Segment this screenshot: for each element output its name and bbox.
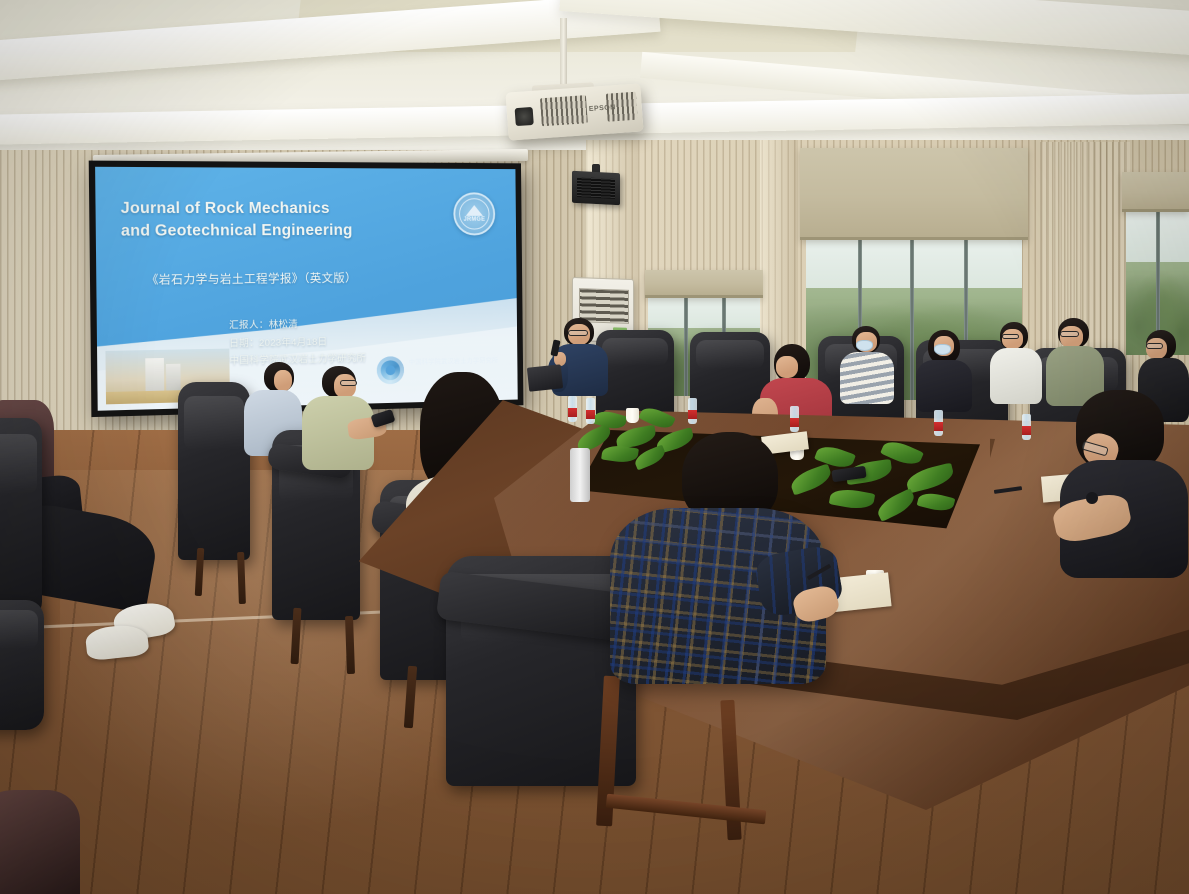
leaf	[874, 488, 918, 522]
window-mullion	[910, 220, 914, 400]
glasses-icon	[340, 380, 357, 386]
person-attendee-striped	[840, 326, 896, 406]
person-presenter	[548, 318, 616, 408]
laptop[interactable]	[527, 364, 563, 391]
face	[776, 356, 798, 378]
window-mullion	[684, 286, 688, 396]
water-bottle[interactable]	[790, 406, 799, 432]
person-attendee-foreground	[576, 432, 836, 682]
projector-vent	[540, 95, 588, 126]
ceiling-projector: EPSON	[505, 83, 643, 140]
conference-chair[interactable]	[0, 418, 42, 618]
glasses-icon	[1060, 331, 1079, 337]
slide-title-line-1: Journal of Rock Mechanics	[121, 198, 422, 221]
person-foreground-partial	[0, 790, 80, 894]
window-blind[interactable]	[1122, 172, 1189, 212]
paper-cup[interactable]	[626, 408, 639, 423]
person-attendee-right-front	[1040, 390, 1189, 590]
jrmge-logo-label: JRMGE	[464, 217, 486, 223]
face-mask	[856, 340, 873, 351]
building-icon	[166, 364, 181, 393]
building-icon	[145, 358, 164, 393]
leaf	[904, 462, 955, 493]
window-blind[interactable]	[645, 270, 763, 298]
glasses-icon	[1146, 343, 1163, 349]
glasses-icon	[568, 330, 588, 336]
torso	[990, 348, 1042, 404]
leaf	[917, 490, 956, 514]
conference-chair[interactable]	[0, 600, 44, 730]
jrmge-logo-icon: JRMGE	[453, 192, 495, 235]
mountain-peak-icon	[466, 205, 483, 216]
jrmge-logo-inner: JRMGE	[459, 198, 490, 229]
water-bottle[interactable]	[1022, 414, 1031, 440]
glasses-icon	[1002, 334, 1019, 339]
bracelet	[1086, 492, 1098, 504]
slide-subtitle: 《岩石力学与岩土工程学报》（英文版）	[146, 269, 474, 288]
projector-mount-pole	[560, 18, 567, 88]
sneaker	[84, 623, 149, 661]
water-bottle[interactable]	[568, 396, 577, 422]
face	[1060, 326, 1083, 348]
conference-room-photo: EPSON Journal of Rock Mechanics and Geot…	[0, 0, 1189, 894]
face-mask	[934, 344, 951, 355]
person-attendee-mask-woman	[916, 330, 974, 414]
face	[334, 374, 356, 398]
water-bottle[interactable]	[934, 410, 943, 436]
torso	[840, 352, 894, 404]
torso	[0, 790, 80, 894]
institute-logo-label: 中国科学院武汉岩土力学研究所	[409, 356, 501, 368]
water-bottle[interactable]	[586, 398, 595, 424]
water-bottle[interactable]	[688, 398, 697, 424]
person-attendee-left-2	[302, 366, 382, 476]
torso	[916, 360, 972, 412]
slide-title-line-2: and Geotechnical Engineering	[121, 220, 422, 243]
person-attendee-right-1	[990, 322, 1044, 408]
wall-speaker	[572, 171, 620, 206]
face	[1002, 329, 1023, 349]
face	[274, 370, 292, 391]
window-blind[interactable]	[800, 148, 1028, 240]
slide-title: Journal of Rock Mechanics and Geotechnic…	[121, 198, 422, 243]
